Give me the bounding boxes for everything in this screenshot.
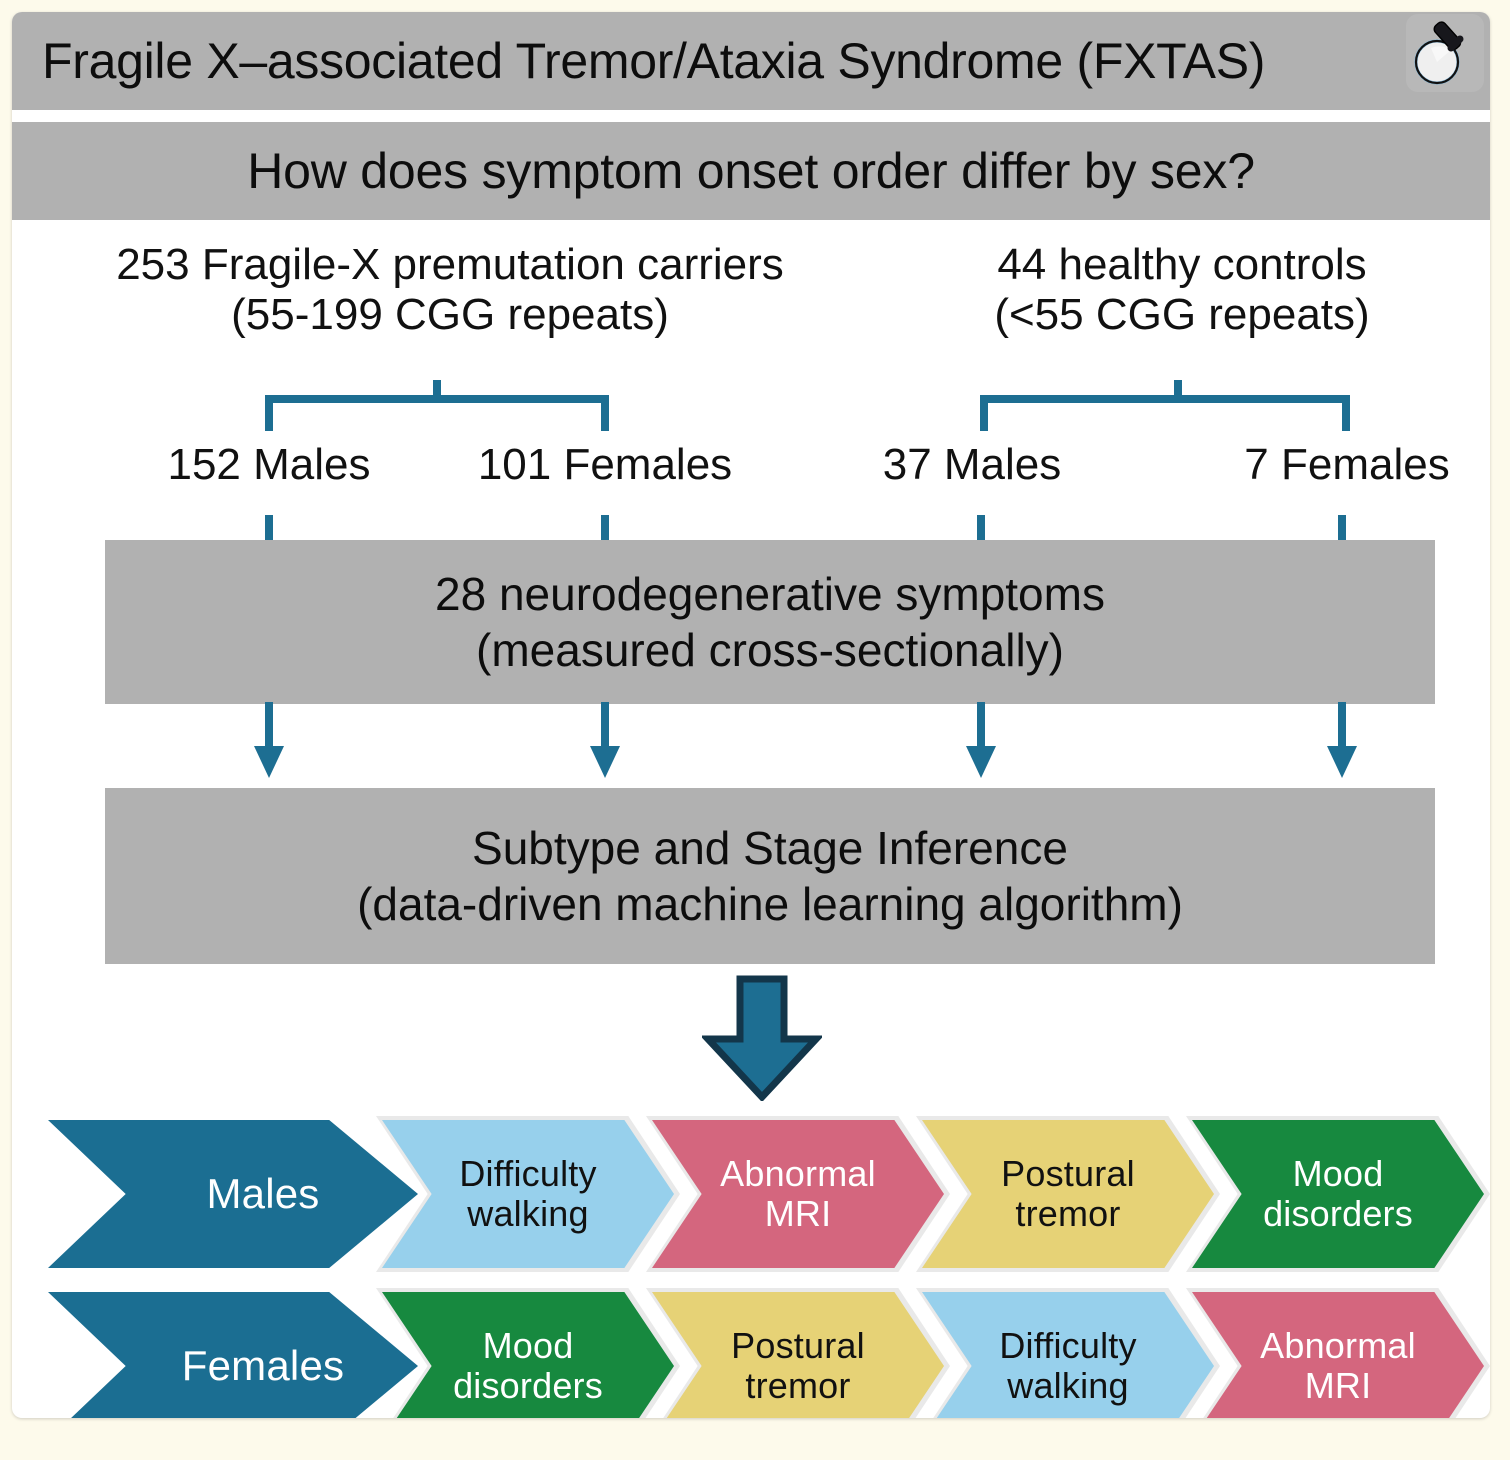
- group-label-control-females: 7 Females: [1244, 440, 1449, 490]
- sequence-step-chevron: Difficultywalking: [922, 1292, 1214, 1418]
- bracket-controls-stem: [1174, 380, 1182, 398]
- symptoms-line1: 28 neurodegenerative symptoms: [435, 566, 1105, 622]
- sequence-step-chevron: Mooddisorders: [382, 1292, 674, 1418]
- inference-line2: (data-driven machine learning algorithm): [357, 876, 1183, 932]
- page-title: Fragile X–associated Tremor/Ataxia Syndr…: [42, 32, 1265, 90]
- group-label-control-males: 37 Males: [883, 440, 1062, 490]
- symptoms-line2: (measured cross-sectionally): [476, 622, 1064, 678]
- research-question: How does symptom onset order differ by s…: [247, 142, 1255, 200]
- sequence-step-chevron: Difficultywalking: [382, 1120, 674, 1268]
- sequence-step-label-line1: Mood: [453, 1326, 603, 1366]
- sequence-step-label: Posturaltremor: [995, 1154, 1141, 1233]
- cohort-carriers-line1: 253 Fragile-X premutation carriers: [40, 240, 860, 290]
- sequence-label-text: Females: [176, 1343, 350, 1389]
- sequence-step-label-line2: tremor: [731, 1366, 865, 1406]
- sequence-step-label: AbnormalMRI: [1254, 1326, 1422, 1405]
- bracket-carriers-right-tick: [601, 395, 609, 431]
- sequence-step-label-line1: Postural: [1001, 1154, 1135, 1194]
- inference-box: Subtype and Stage Inference (data-driven…: [105, 788, 1435, 964]
- sequence-step-label-line2: walking: [999, 1366, 1136, 1406]
- cohort-carriers: 253 Fragile-X premutation carriers (55-1…: [40, 240, 860, 340]
- research-question-bar: How does symptom onset order differ by s…: [12, 122, 1490, 220]
- sequence-step-label: AbnormalMRI: [714, 1154, 882, 1233]
- sequence-step-label-line2: MRI: [1260, 1366, 1416, 1406]
- sequence-step-label-line2: walking: [459, 1194, 596, 1234]
- sequence-step-label-line2: tremor: [1001, 1194, 1135, 1234]
- sequence-step-label: Difficultywalking: [453, 1154, 602, 1233]
- inference-line1: Subtype and Stage Inference: [472, 820, 1068, 876]
- sequence-step-label: Mooddisorders: [447, 1326, 609, 1405]
- infographic-card: Fragile X–associated Tremor/Ataxia Syndr…: [12, 12, 1490, 1418]
- page-title-bar: Fragile X–associated Tremor/Ataxia Syndr…: [12, 12, 1490, 110]
- sequence-step-label-line2: MRI: [720, 1194, 876, 1234]
- symptoms-to-inference-arrows: [12, 702, 1490, 792]
- cohort-controls-line2: (<55 CGG repeats): [892, 290, 1472, 340]
- bracket-carriers-left-tick: [265, 395, 273, 431]
- group-label-carrier-females: 101 Females: [478, 440, 732, 490]
- sequence-step-label-line1: Mood: [1263, 1154, 1413, 1194]
- sequence-step-label-line2: disorders: [1263, 1194, 1413, 1234]
- sequence-step-chevron: AbnormalMRI: [1192, 1292, 1484, 1418]
- sequence-step-label-line1: Difficulty: [459, 1154, 596, 1194]
- cohort-controls: 44 healthy controls (<55 CGG repeats): [892, 240, 1472, 340]
- sequence-step-chevron: Posturaltremor: [652, 1292, 944, 1418]
- group-label-carrier-males: 152 Males: [167, 440, 370, 490]
- cohort-controls-line1: 44 healthy controls: [892, 240, 1472, 290]
- cohort-carriers-line2: (55-199 CGG repeats): [40, 290, 860, 340]
- sequence-row-females: FemalesMooddisordersPosturaltremorDiffic…: [48, 1292, 1472, 1418]
- sequence-step-label-line2: disorders: [453, 1366, 603, 1406]
- result-down-arrow-icon: [702, 975, 822, 1101]
- bracket-controls-right-tick: [1342, 395, 1350, 431]
- sequence-label-chevron-males: Males: [48, 1120, 418, 1268]
- sequence-label-chevron-females: Females: [48, 1292, 418, 1418]
- sequence-row-males: MalesDifficultywalkingAbnormalMRIPostura…: [48, 1120, 1472, 1268]
- sequence-step-label: Difficultywalking: [993, 1326, 1142, 1405]
- sequence-step-label-line1: Abnormal: [720, 1154, 876, 1194]
- sequence-step-label: Mooddisorders: [1257, 1154, 1419, 1233]
- sequence-step-chevron: Mooddisorders: [1192, 1120, 1484, 1268]
- sequence-step-chevron: AbnormalMRI: [652, 1120, 944, 1268]
- sequence-label-text: Males: [200, 1171, 325, 1217]
- sequence-step-label-line1: Postural: [731, 1326, 865, 1366]
- sequence-step-label-line1: Difficulty: [999, 1326, 1136, 1366]
- sequence-step-chevron: Posturaltremor: [922, 1120, 1214, 1268]
- bracket-carriers-stem: [433, 380, 441, 398]
- bracket-controls-left-tick: [980, 395, 988, 431]
- symptoms-box: 28 neurodegenerative symptoms (measured …: [105, 540, 1435, 704]
- bracket-controls-horizontal: [980, 395, 1350, 403]
- sequence-step-label-line1: Abnormal: [1260, 1326, 1416, 1366]
- sequence-step-label: Posturaltremor: [725, 1326, 871, 1405]
